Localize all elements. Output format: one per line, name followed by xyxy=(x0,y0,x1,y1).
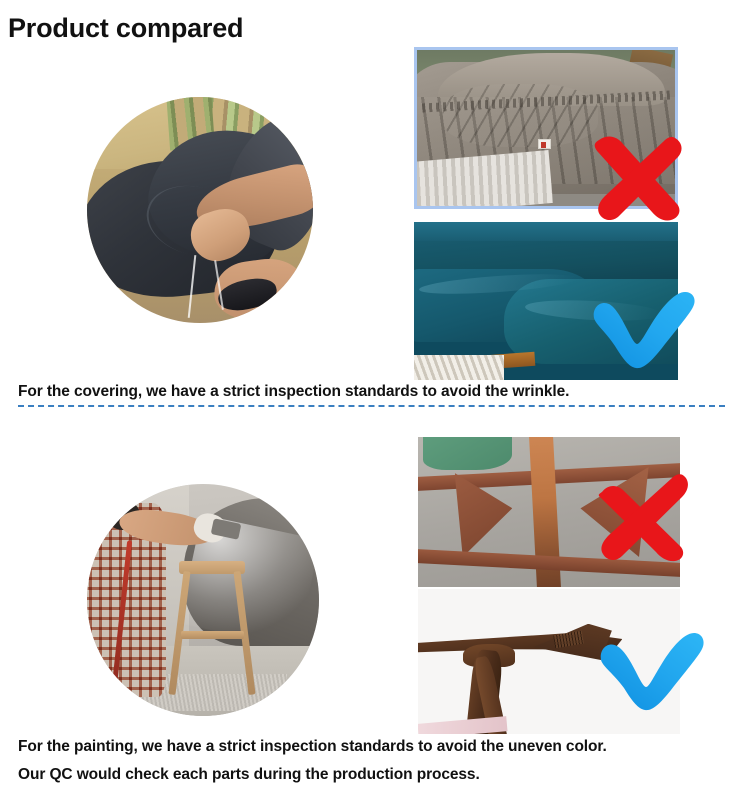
painting-process-scene xyxy=(87,484,319,716)
cross-icon xyxy=(588,466,692,562)
cross-icon xyxy=(585,126,689,222)
check-icon xyxy=(596,628,706,712)
pink-surface-reflection xyxy=(418,716,508,734)
page-title: Product compared xyxy=(8,13,243,44)
caption-covering: For the covering, we have a strict inspe… xyxy=(18,383,569,401)
wrinkle-texture-secondary xyxy=(443,84,598,146)
caption-qc-process: Our QC would check each parts during the… xyxy=(18,766,480,784)
wooden-stool xyxy=(173,561,252,696)
fabric-brand-tag xyxy=(538,139,551,149)
process-photo-covering xyxy=(87,97,313,323)
shag-rug xyxy=(414,355,504,380)
radiator-background xyxy=(414,150,553,209)
section-divider xyxy=(18,405,725,407)
caption-painting: For the painting, we have a strict inspe… xyxy=(18,738,607,756)
product-comparison-page: Product compared xyxy=(0,0,750,800)
stool-stretcher xyxy=(181,631,244,639)
process-photo-painting xyxy=(87,484,319,716)
green-floor-patch xyxy=(423,437,512,470)
covering-process-scene xyxy=(87,97,313,323)
check-icon xyxy=(588,288,698,370)
sofa-backrest-top xyxy=(414,222,678,241)
